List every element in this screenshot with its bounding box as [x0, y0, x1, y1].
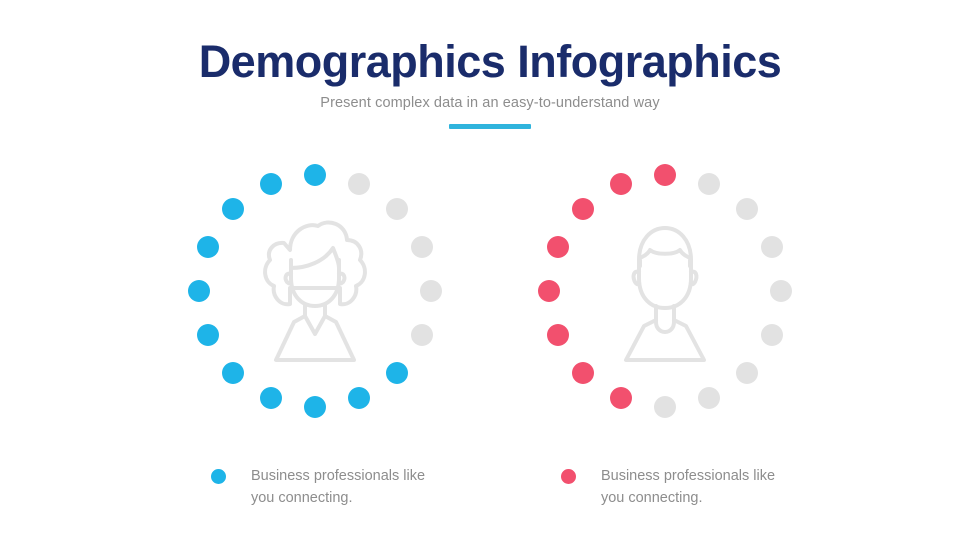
ring-dot-filled — [538, 280, 560, 302]
accent-divider — [449, 124, 531, 129]
ring-dot-filled — [610, 387, 632, 409]
legend-color-swatch-pink — [561, 469, 576, 484]
infographic-slide: Demographics Infographics Present comple… — [0, 0, 980, 551]
ring-dot-inactive — [411, 324, 433, 346]
ring-dot-inactive — [736, 198, 758, 220]
legend-label: Business professionals like you connecti… — [251, 466, 425, 510]
legend-color-swatch-blue — [211, 469, 226, 484]
ring-dot-filled — [572, 362, 594, 384]
male-panel: Business professionals like you connecti… — [490, 160, 840, 510]
panels-container: Business professionals like you connecti… — [0, 160, 980, 510]
male-legend: Business professionals like you connecti… — [555, 466, 775, 510]
ring-dot-filled — [386, 362, 408, 384]
page-title: Demographics Infographics — [0, 38, 980, 85]
female-dot-ring-chart — [184, 160, 446, 422]
ring-dot-filled — [260, 387, 282, 409]
male-person-icon — [600, 216, 730, 366]
ring-dot-filled — [197, 236, 219, 258]
ring-dot-filled — [222, 198, 244, 220]
ring-dot-inactive — [654, 396, 676, 418]
ring-dot-filled — [304, 396, 326, 418]
ring-dot-inactive — [770, 280, 792, 302]
ring-dot-filled — [260, 173, 282, 195]
ring-dot-filled — [188, 280, 210, 302]
ring-dot-inactive — [386, 198, 408, 220]
ring-dot-filled — [610, 173, 632, 195]
legend-label-line1: Business professionals like — [251, 468, 425, 484]
ring-dot-filled — [572, 198, 594, 220]
female-person-icon — [250, 216, 380, 366]
ring-dot-filled — [547, 236, 569, 258]
ring-dot-filled — [654, 164, 676, 186]
ring-dot-inactive — [698, 387, 720, 409]
female-legend: Business professionals like you connecti… — [205, 466, 425, 510]
page-subtitle: Present complex data in an easy-to-under… — [0, 95, 980, 111]
legend-label-line2: you connecting. — [601, 490, 703, 506]
ring-dot-filled — [547, 324, 569, 346]
ring-dot-filled — [304, 164, 326, 186]
ring-dot-inactive — [420, 280, 442, 302]
ring-dot-filled — [222, 362, 244, 384]
ring-dot-inactive — [698, 173, 720, 195]
ring-dot-inactive — [411, 236, 433, 258]
ring-dot-inactive — [348, 173, 370, 195]
ring-dot-inactive — [761, 236, 783, 258]
ring-dot-filled — [348, 387, 370, 409]
ring-dot-inactive — [761, 324, 783, 346]
legend-label: Business professionals like you connecti… — [601, 466, 775, 510]
female-panel: Business professionals like you connecti… — [140, 160, 490, 510]
ring-dot-filled — [197, 324, 219, 346]
ring-dot-inactive — [736, 362, 758, 384]
legend-label-line2: you connecting. — [251, 490, 353, 506]
legend-label-line1: Business professionals like — [601, 468, 775, 484]
male-dot-ring-chart — [534, 160, 796, 422]
header: Demographics Infographics Present comple… — [0, 38, 980, 129]
